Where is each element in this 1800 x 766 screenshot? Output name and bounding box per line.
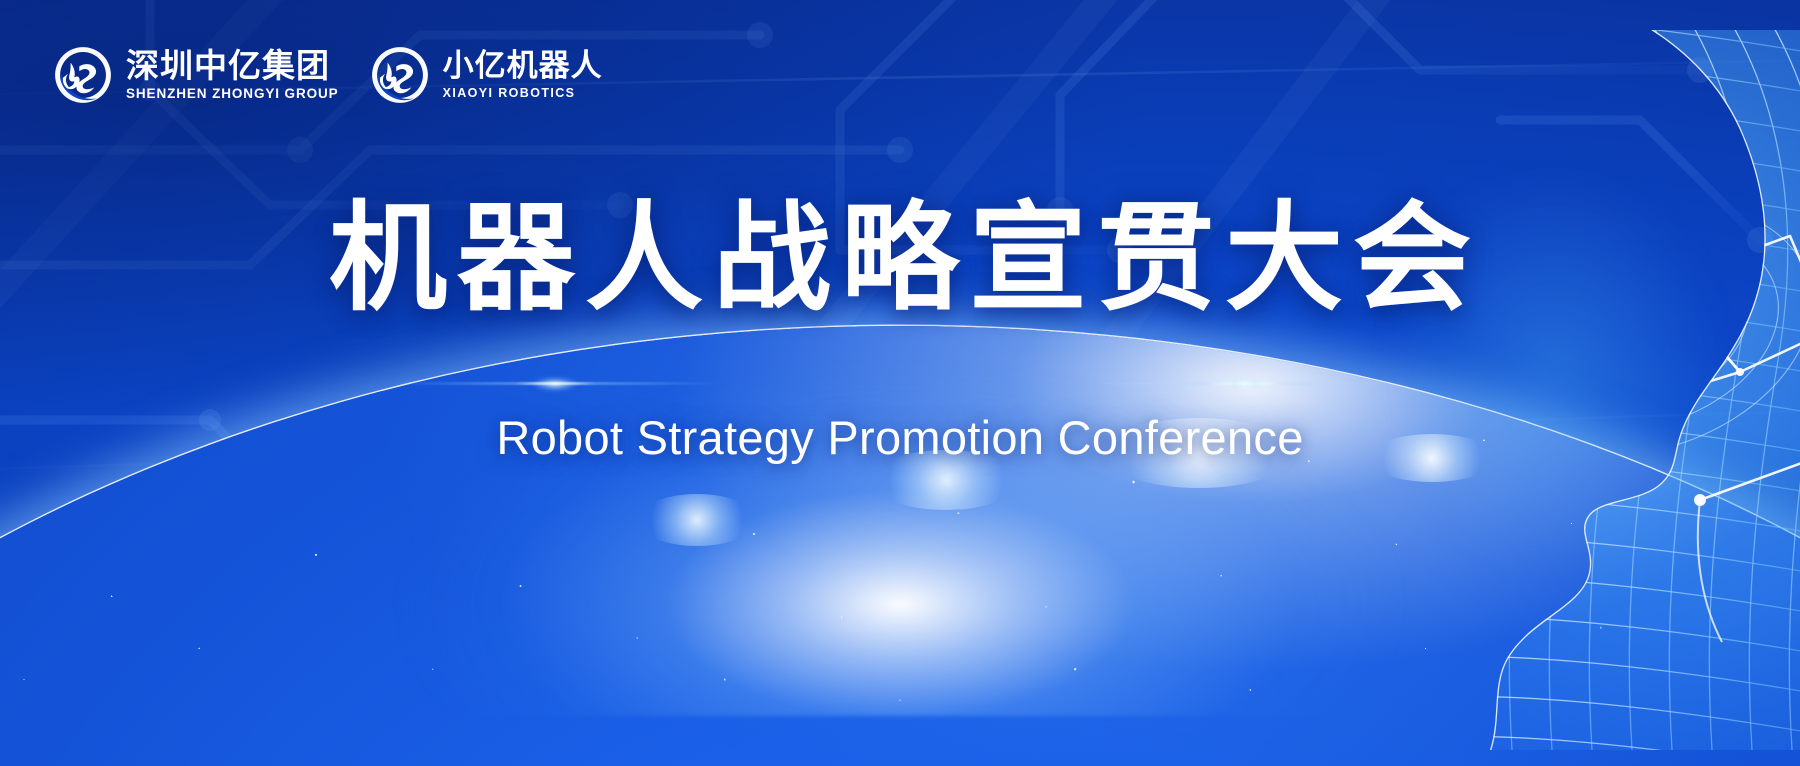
logo-shenzhen-zhongyi-group[interactable]: 深圳中亿集团 SHENZHEN ZHONGYI GROUP <box>52 44 339 106</box>
logo-text-group: 深圳中亿集团 SHENZHEN ZHONGYI GROUP <box>126 49 339 102</box>
poster-canvas: 深圳中亿集团 SHENZHEN ZHONGYI GROUP 小亿机器人 XIAO… <box>0 0 1800 766</box>
logo-text-group: 小亿机器人 XIAOYI ROBOTICS <box>443 50 603 100</box>
logo-name-en: SHENZHEN ZHONGYI GROUP <box>126 86 339 101</box>
logo-xiaoyi-robotics[interactable]: 小亿机器人 XIAOYI ROBOTICS <box>369 44 603 106</box>
logo-name-cn: 小亿机器人 <box>443 50 603 83</box>
zhongyi-phoenix-circle-logo-icon <box>52 44 114 106</box>
logo-name-cn: 深圳中亿集团 <box>126 49 339 84</box>
xiaoyi-phoenix-circle-logo-icon <box>369 44 431 106</box>
earth-sphere <box>0 326 1800 766</box>
earth-horizon <box>0 326 1800 766</box>
earth-city-lights <box>0 326 1800 766</box>
logo-bar: 深圳中亿集团 SHENZHEN ZHONGYI GROUP 小亿机器人 XIAO… <box>52 44 603 106</box>
logo-name-en: XIAOYI ROBOTICS <box>443 86 603 100</box>
